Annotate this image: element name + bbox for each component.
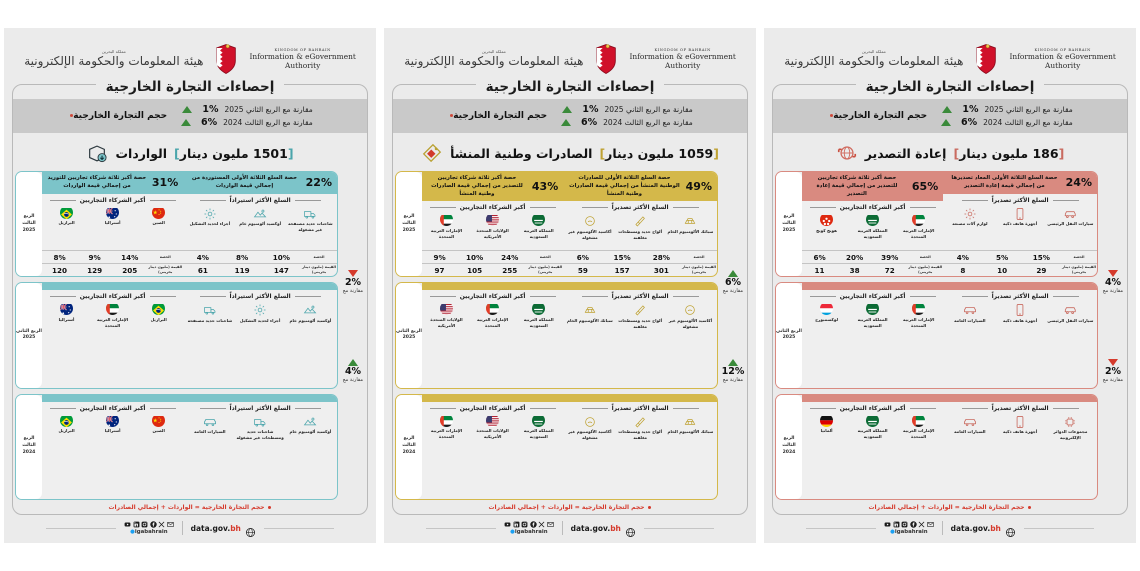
partners-header-plain xyxy=(42,283,183,290)
logo-name-ar: هيئة المعلومات والحكومة الإلكترونية xyxy=(24,54,203,70)
share-cell: 15% xyxy=(603,251,642,263)
quarter-row: السلع الأكثر استيراداًأوكسيد ألومنيوم خا… xyxy=(15,394,338,500)
section-value: [186 مليون دينار] xyxy=(953,146,1064,161)
box-download-icon xyxy=(86,142,108,164)
table-row: القيمة (مليون دينار بحريني)30115759 xyxy=(563,263,717,276)
quarter-tag: الربع الثاني 2025 xyxy=(396,283,422,387)
card-body: 2%مقارنة مع#d53a2c4%مقارنة مع#3a8a3a22%ح… xyxy=(13,171,367,500)
oxide-icon xyxy=(683,302,697,316)
flag-ae-icon xyxy=(912,213,925,226)
mineral-icon xyxy=(253,206,267,220)
trend-up-icon xyxy=(348,359,358,366)
social-icon-row[interactable] xyxy=(504,521,554,528)
good-item: سبائك الألومنيوم الخام xyxy=(565,302,614,323)
gear-icon xyxy=(963,206,977,220)
flag-ae-icon xyxy=(486,302,499,315)
quarter-tag: الربع الثالث 2024 xyxy=(396,395,422,499)
good-name: شاحنات حديد ومسطحات غير مشغولة xyxy=(236,429,285,440)
partners-subtitle: أكبر الشركاء التجاريين xyxy=(422,290,563,301)
goods-header-plain xyxy=(563,395,717,402)
partners-share-desc: حصة أكبر ثلاثة شركاء تجاريين للتصدير من … xyxy=(427,175,527,198)
globe-icon xyxy=(1005,523,1016,534)
good-item: سبائك الألومنيوم الخام xyxy=(666,213,715,234)
partner-name: الإمارات العربية المتحدة xyxy=(896,317,941,328)
goods-subtitle: السلع الأكثر تصديراً xyxy=(563,201,717,212)
share-cell: 6% xyxy=(802,251,837,263)
value-cell: 301 xyxy=(642,264,681,276)
quarter-tag: الربع الثالث 2025 xyxy=(396,172,422,276)
flag-lu-icon xyxy=(820,302,833,315)
share-cell: 5% xyxy=(983,251,1022,263)
gear-icon xyxy=(203,206,217,220)
good-name: لوازم آلات مصنعة xyxy=(952,221,987,227)
partners-header: 43%حصة أكبر ثلاثة شركاء تجاريين للتصدير … xyxy=(422,172,563,201)
partner-item: المملكة العربية السعودية xyxy=(850,302,895,328)
good-item: السيارات العامة xyxy=(945,302,994,323)
goods-section: 22%حصة السلع الثلاثة الأولى المستوردة من… xyxy=(183,172,337,276)
flag-ae-icon xyxy=(440,414,453,427)
social-icon-row[interactable] xyxy=(124,521,174,528)
linkedin-icon xyxy=(513,521,520,528)
circuit-icon xyxy=(1063,414,1077,428)
partner-item: المملكة العربية السعودية xyxy=(516,414,561,440)
quarter-label: الربع الثالث 2024 xyxy=(16,436,42,457)
partners-header-plain xyxy=(802,395,943,402)
compare-period: مقارنة مع الربع الثاني 2025 xyxy=(604,105,692,114)
value-cell: 61 xyxy=(183,264,222,276)
value-cell: 59 xyxy=(563,264,602,276)
card-title: إحصاءات التجارة الخارجية xyxy=(393,76,747,95)
panel-imports: KINGDOM OF BAHRAINInformation & eGovernm… xyxy=(4,28,376,543)
social-links[interactable]: igabahrain● xyxy=(504,521,554,535)
change-marker: 6%مقارنة مع#3a8a3a xyxy=(721,270,745,295)
footer-divider xyxy=(182,521,183,535)
car-icon xyxy=(1063,206,1077,220)
quarter-tag: الربع الثالث 2025 xyxy=(776,172,802,276)
partners-section: أكبر الشركاء التجاريينالإمارات العربية ا… xyxy=(802,283,943,387)
footer-rule-left xyxy=(1024,528,1094,529)
marker-pct: 12% xyxy=(722,366,745,377)
partner-name: الصين xyxy=(153,428,165,434)
good-item: السيارات العامة xyxy=(945,414,994,435)
logo-arabic: مملكة البحرينهيئة المعلومات والحكومة الإ… xyxy=(404,49,583,70)
good-item: أكاسيد الألومنيوم غير مشغولة xyxy=(565,414,614,441)
table-row: الحصة14%9%8% xyxy=(42,250,183,263)
quarter-label: الربع الثاني 2025 xyxy=(776,329,802,343)
partner-item: ألمانيا xyxy=(804,414,849,434)
instagram-icon xyxy=(521,521,528,528)
partner-item: أستراليا xyxy=(90,414,135,434)
logo-english: KINGDOM OF BAHRAINInformation & eGovernm… xyxy=(249,48,355,71)
compare-pct: 1% xyxy=(198,104,218,115)
goods-header-plain xyxy=(183,283,337,290)
car2-icon xyxy=(963,302,977,316)
marker-pct: 4% xyxy=(1105,277,1121,288)
partner-item: الإمارات العربية المتحدة xyxy=(896,302,941,328)
card-body: 4%مقارنة مع#d53a2c2%مقارنة مع#d53a2c24%ح… xyxy=(773,171,1127,500)
partners-share-pct: 65% xyxy=(912,180,938,193)
partner-item: الإمارات العربية المتحدة xyxy=(896,213,941,239)
goods-share-pct: 22% xyxy=(306,176,332,189)
logo-authority-en: Authority xyxy=(249,61,355,70)
share-cell: 6% xyxy=(563,251,602,263)
partners-subtitle: أكبر الشركاء التجاريين xyxy=(42,290,183,301)
change-rail: 6%مقارنة مع#3a8a3a12%مقارنة مع#3a8a3a xyxy=(721,171,745,500)
row-label-share: الحصة xyxy=(301,254,337,261)
flag-de-icon xyxy=(820,414,833,427)
good-name: ألواح حديد ومسطحات مغلفنة xyxy=(616,318,665,329)
flag-ae-icon xyxy=(106,302,119,315)
section-name: الواردات xyxy=(115,146,167,161)
trend-down-icon xyxy=(1108,359,1118,366)
partners-subtitle: أكبر الشركاء التجاريين xyxy=(422,402,563,413)
data-table: الحصة39%20%6%القيمة (مليون دينار بحريني)… xyxy=(802,250,943,276)
data-portal-label: data.gov.bh xyxy=(571,524,621,533)
partners-subtitle: أكبر الشركاء التجاريين xyxy=(42,194,183,205)
email-icon xyxy=(547,521,554,528)
good-name: أجزاء لحديد التشكيل xyxy=(240,318,280,324)
partners-header: 31%حصة أكبر ثلاثة شركاء تجاريين للتوريد … xyxy=(42,172,183,194)
good-name: ألواح حديد ومسطحات مغلفنة xyxy=(616,229,665,240)
row-label-share: الحصة xyxy=(527,254,563,261)
logo-header: KINGDOM OF BAHRAINInformation & eGovernm… xyxy=(392,38,748,80)
good-item: أوكسيد ألومنيوم خام xyxy=(236,206,285,227)
logo-english: KINGDOM OF BAHRAINInformation & eGovernm… xyxy=(629,48,735,71)
partners-section: 65%حصة أكبر ثلاثة شركاء تجاريين للتصدير … xyxy=(802,172,943,276)
goods-items: شاحنات حديد مصنفحة غير مشغولةأوكسيد ألوم… xyxy=(183,205,337,233)
value-cell: 97 xyxy=(422,264,457,276)
bahrain-emblem-icon xyxy=(969,42,1003,76)
partner-item: المملكة العربية السعودية xyxy=(850,414,895,440)
good-name: سيارات النقل الرئيسي xyxy=(1047,318,1093,324)
trend-up-icon xyxy=(941,119,951,126)
panel-footer: data.gov.bhigabahrain● xyxy=(392,515,748,539)
social-handle: igabahrain● xyxy=(890,529,927,535)
partner-name: المملكة العربية السعودية xyxy=(516,228,561,239)
social-links[interactable]: igabahrain● xyxy=(884,521,934,535)
partners-items: المملكة العربية السعوديةالولايات المتحدة… xyxy=(422,413,563,440)
partner-name: أستراليا xyxy=(59,317,75,323)
quarter-label: الربع الثالث 2025 xyxy=(16,214,42,235)
partner-item: البرازيل xyxy=(44,206,89,226)
row-label-value: القيمة (مليون دينار بحريني) xyxy=(301,264,337,276)
good-name: السيارات العامة xyxy=(194,429,225,435)
partner-name: البرازيل xyxy=(58,428,74,434)
good-item: شاحنات حديد مصنفحة غير مشغولة xyxy=(286,206,335,233)
social-handle: igabahrain● xyxy=(130,529,167,535)
good-item: ألواح حديد ومسطحات مغلفنة xyxy=(616,213,665,240)
data-portal-link[interactable]: data.gov.bh xyxy=(951,523,1016,534)
good-name: السيارات العامة xyxy=(954,318,985,324)
good-name: أجزاء لحديد التشكيل xyxy=(190,221,230,227)
trend-up-icon xyxy=(181,119,191,126)
linkedin-icon xyxy=(893,521,900,528)
quarter-tag: الربع الثالث 2024 xyxy=(776,395,802,499)
facebook-icon xyxy=(150,521,157,528)
flag-cn-icon xyxy=(152,414,165,427)
partner-item: البرازيل xyxy=(136,302,181,322)
trend-up-icon xyxy=(182,106,192,113)
good-item: أجزاء لحديد التشكيل xyxy=(236,302,285,323)
flag-sa-icon xyxy=(866,414,879,427)
compare-period: مقارنة مع الربع الثالث 2024 xyxy=(223,118,313,127)
goods-section: السلع الأكثر تصديراًسيارات النقل الرئيسي… xyxy=(943,283,1097,387)
goods-header: 24%حصة السلع الثلاثة الأولى المعاد تصدير… xyxy=(943,172,1097,194)
quarter-label: الربع الثالث 2024 xyxy=(776,436,802,457)
flag-us-icon xyxy=(440,302,453,315)
share-cell: 9% xyxy=(422,251,457,263)
marker-label: مقارنة مع xyxy=(343,288,363,295)
partner-name: الإمارات العربية المتحدة xyxy=(424,428,469,439)
change-marker: 2%مقارنة مع#d53a2c xyxy=(1101,359,1125,384)
partner-name: الإمارات العربية المتحدة xyxy=(90,317,135,328)
compare-label: حجم التجارة الخارجية xyxy=(447,111,547,121)
goods-share-desc: حصة السلع الثلاثة الأولى المستوردة من إج… xyxy=(188,175,300,191)
goods-header-plain xyxy=(943,283,1097,290)
footnote: حجم التجارة الخارجية = الواردات + إجمالي… xyxy=(13,500,367,514)
logo-name-ar: هيئة المعلومات والحكومة الإلكترونية xyxy=(784,54,963,70)
change-rail: 4%مقارنة مع#d53a2c2%مقارنة مع#d53a2c xyxy=(1101,171,1125,500)
good-name: مجموعات الدوائر الإلكترونية xyxy=(1046,429,1095,440)
email-icon xyxy=(927,521,934,528)
car2-icon xyxy=(203,414,217,428)
compare-label: حجم التجارة الخارجية xyxy=(67,111,167,121)
card-title: إحصاءات التجارة الخارجية xyxy=(773,76,1127,95)
partners-header: 65%حصة أكبر ثلاثة شركاء تجاريين للتصدير … xyxy=(802,172,943,201)
flag-br-icon xyxy=(152,302,165,315)
flag-sa-icon xyxy=(532,302,545,315)
compare-row: مقارنة مع الربع الثاني 20251% xyxy=(181,104,313,115)
compare-rows: مقارنة مع الربع الثاني 20251%مقارنة مع ا… xyxy=(561,104,693,128)
quarter-label: الربع الثاني 2025 xyxy=(16,329,42,343)
ingot-icon xyxy=(583,302,597,316)
social-icon-row[interactable] xyxy=(884,521,934,528)
partners-items: الصينأسترالياالبرازيل xyxy=(42,205,183,226)
infographic-board: KINGDOM OF BAHRAINInformation & eGovernm… xyxy=(0,28,1140,543)
value-cell: 72 xyxy=(872,264,907,276)
data-portal-label: data.gov.bh xyxy=(191,524,241,533)
flag-us-icon xyxy=(486,414,499,427)
trend-up-icon xyxy=(728,270,738,277)
data-table: الحصة10%8%4%القيمة (مليون دينار بحريني)1… xyxy=(183,250,337,276)
share-cell: 24% xyxy=(492,251,527,263)
partners-header-plain xyxy=(422,395,563,402)
data-portal-link[interactable]: data.gov.bh xyxy=(571,523,636,534)
partners-section: أكبر الشركاء التجاريينالمملكة العربية ال… xyxy=(422,283,563,387)
compare-bar: مقارنة مع الربع الثاني 20251%مقارنة مع ا… xyxy=(393,99,747,133)
good-name: السيارات العامة xyxy=(954,429,985,435)
goods-items: أوكسيد ألومنيوم خامشاحنات حديد ومسطحات غ… xyxy=(183,413,337,441)
compare-pct: 6% xyxy=(957,117,977,128)
stats-card: إحصاءات التجارة الخارجيةمقارنة مع الربع … xyxy=(772,84,1128,515)
compare-period: مقارنة مع الربع الثالث 2024 xyxy=(983,118,1073,127)
compare-bar: مقارنة مع الربع الثاني 20251%مقارنة مع ا… xyxy=(773,99,1127,133)
marker-label: مقارنة مع xyxy=(723,288,743,295)
partner-item: الإمارات العربية المتحدة xyxy=(470,302,515,328)
partner-name: الولايات المتحدة الأمريكية xyxy=(470,428,515,439)
mineral-icon xyxy=(303,302,317,316)
share-cell: 8% xyxy=(42,251,77,263)
partner-name: الإمارات العربية المتحدة xyxy=(896,228,941,239)
partner-item: الولايات المتحدة الأمريكية xyxy=(470,213,515,239)
quarter-tag: الربع الثاني 2025 xyxy=(776,283,802,387)
row-label-share: الحصة xyxy=(681,254,717,261)
row-label-share: الحصة xyxy=(147,254,183,261)
partner-item: الإمارات العربية المتحدة xyxy=(424,213,469,239)
footer-rule-left xyxy=(264,528,334,529)
goods-share-desc: حصة السلع الثلاثة الأولى للصادرات الوطني… xyxy=(568,175,680,198)
partner-name: المملكة العربية السعودية xyxy=(850,228,895,239)
good-name: أكاسيد الألومنيوم غير مشغولة xyxy=(565,429,614,440)
trend-up-icon xyxy=(942,106,952,113)
goods-items: سبائك الألومنيوم الخامألواح حديد ومسطحات… xyxy=(563,212,717,240)
good-name: سبائك الألومنيوم الخام xyxy=(567,318,613,324)
car2-icon xyxy=(963,414,977,428)
marker-label: مقارنة مع xyxy=(1103,377,1123,384)
partners-subtitle: أكبر الشركاء التجاريين xyxy=(422,201,563,212)
good-name: شاحنات حديد مصنفحة غير مشغولة xyxy=(286,221,335,232)
partners-subtitle: أكبر الشركاء التجاريين xyxy=(42,402,183,413)
ingot-icon xyxy=(683,213,697,227)
good-name: أوكسيد ألومنيوم خام xyxy=(239,221,281,227)
goods-share-pct: 49% xyxy=(686,180,712,193)
partner-name: أستراليا xyxy=(105,428,121,434)
section-name: الصادرات وطنية المنشأ xyxy=(450,146,592,161)
partner-name: المملكة العربية السعودية xyxy=(850,428,895,439)
change-marker: 2%مقارنة مع#d53a2c xyxy=(341,270,365,295)
partners-items: الصينأسترالياالبرازيل xyxy=(42,413,183,434)
partners-subtitle: أكبر الشركاء التجاريين xyxy=(802,201,943,212)
value-cell: 119 xyxy=(223,264,262,276)
goods-subtitle: السلع الأكثر استيراداً xyxy=(183,194,337,205)
marker-label: مقارنة مع xyxy=(1103,288,1123,295)
trend-down-icon xyxy=(1108,270,1118,277)
goods-section: السلع الأكثر تصديراًسبائك الألومنيوم الخ… xyxy=(563,395,717,499)
flag-au-icon xyxy=(60,302,73,315)
marker-label: مقارنة مع xyxy=(343,377,363,384)
card-title-text: إحصاءات التجارة الخارجية xyxy=(96,79,285,95)
compare-rows: مقارنة مع الربع الثاني 20251%مقارنة مع ا… xyxy=(181,104,313,128)
quarter-row: السلع الأكثر تصديراًسبائك الألومنيوم الخ… xyxy=(395,394,718,500)
table-row: القيمة (مليون دينار بحريني)14711961 xyxy=(183,263,337,276)
quarter-row: 24%حصة السلع الثلاثة الأولى المعاد تصدير… xyxy=(775,171,1098,277)
row-label-value: القيمة (مليون دينار بحريني) xyxy=(681,264,717,276)
share-cell: 4% xyxy=(943,251,982,263)
partners-share-pct: 43% xyxy=(532,180,558,193)
row-label-value: القيمة (مليون دينار بحريني) xyxy=(1061,264,1097,276)
flag-sa-icon xyxy=(532,414,545,427)
partners-section: أكبر الشركاء التجاريينالصينأسترالياالبرا… xyxy=(42,395,183,499)
good-item: شاحنات حديد ومسطحات غير مشغولة xyxy=(236,414,285,441)
data-portal-label: data.gov.bh xyxy=(951,524,1001,533)
quarter-tag: الربع الثالث 2024 xyxy=(16,395,42,499)
good-name: سبائك الألومنيوم الخام xyxy=(667,429,713,435)
goods-section: السلع الأكثر استيراداًأوكسيد ألومنيوم خا… xyxy=(183,395,337,499)
partner-item: الإمارات العربية المتحدة xyxy=(424,414,469,440)
panel-footer: data.gov.bhigabahrain● xyxy=(12,515,368,539)
flag-ae-icon xyxy=(912,302,925,315)
card-title-text: إحصاءات التجارة الخارجية xyxy=(476,79,665,95)
goods-items: أكاسيد الألومنيوم غير مشغولةألواح حديد و… xyxy=(563,301,717,329)
flag-br-icon xyxy=(60,206,73,219)
partner-name: أستراليا xyxy=(105,220,121,226)
good-name: ألواح حديد ومسطحات مغلفنة xyxy=(616,429,665,440)
value-cell: 8 xyxy=(943,264,982,276)
card-title: إحصاءات التجارة الخارجية xyxy=(13,76,367,95)
partner-name: المملكة العربية السعودية xyxy=(516,428,561,439)
quarter-label: الربع الثالث 2025 xyxy=(396,214,422,235)
share-cell: 10% xyxy=(262,251,301,263)
goods-subtitle: السلع الأكثر تصديراً xyxy=(563,290,717,301)
footer-divider xyxy=(562,521,563,535)
partner-item: الإمارات العربية المتحدة xyxy=(90,302,135,328)
car-icon xyxy=(1063,302,1077,316)
partner-name: الولايات المتحدة الأمريكية xyxy=(470,228,515,239)
gear-icon xyxy=(253,302,267,316)
partner-item: الصين xyxy=(136,206,181,226)
quarter-rows: 49%حصة السلع الثلاثة الأولى للصادرات الو… xyxy=(395,171,718,500)
logo-name-en: Information & eGovernment xyxy=(249,52,355,61)
table-row: الحصة15%5%4% xyxy=(943,250,1097,263)
facebook-icon xyxy=(530,521,537,528)
goods-subtitle: السلع الأكثر تصديراً xyxy=(563,402,717,413)
partner-name: المملكة العربية السعودية xyxy=(850,317,895,328)
partner-name: الإمارات العربية المتحدة xyxy=(470,317,515,328)
partners-items: المملكة العربية السعوديةالإمارات العربية… xyxy=(422,301,563,328)
value-cell: 157 xyxy=(603,264,642,276)
table-row: الحصة39%20%6% xyxy=(802,250,943,263)
quarter-row: السلع الأكثر تصديراًسيارات النقل الرئيسي… xyxy=(775,282,1098,388)
social-links[interactable]: igabahrain● xyxy=(124,521,174,535)
partners-header-plain xyxy=(422,283,563,290)
good-item: أوكسيد ألومنيوم خام xyxy=(286,302,335,323)
tag-icon xyxy=(421,142,443,164)
partner-item: هونج كونج xyxy=(804,213,849,233)
phone-icon xyxy=(1013,206,1027,220)
section-value: [1501 مليون دينار] xyxy=(174,146,294,161)
good-name: أجهزة هاتف ذكية xyxy=(1003,429,1037,435)
goods-items: أوكسيد ألومنيوم خامأجزاء لحديد التشكيلشا… xyxy=(183,301,337,323)
table-row: القيمة (مليون دينار بحريني)25510597 xyxy=(422,263,563,276)
good-name: أوكسيد ألومنيوم خام xyxy=(289,429,331,435)
partner-name: الولايات المتحدة الأمريكية xyxy=(424,317,469,328)
partner-name: ألمانيا xyxy=(821,428,833,434)
value-cell: 10 xyxy=(983,264,1022,276)
change-marker: 4%مقارنة مع#3a8a3a xyxy=(341,359,365,384)
quarter-label: الربع الثاني 2025 xyxy=(396,329,422,343)
value-cell: 29 xyxy=(1022,264,1061,276)
table-row: الحصة10%8%4% xyxy=(183,250,337,263)
partner-item: الإمارات العربية المتحدة xyxy=(896,414,941,440)
logo-header: KINGDOM OF BAHRAINInformation & eGovernm… xyxy=(772,38,1128,80)
good-name: أكاسيد الألومنيوم غير مشغولة xyxy=(666,318,715,329)
table-row: القيمة (مليون دينار بحريني)205129120 xyxy=(42,263,183,276)
good-item: أجهزة هاتف ذكية xyxy=(996,302,1045,323)
quarter-label: الربع الثالث 2024 xyxy=(396,436,422,457)
goods-subtitle: السلع الأكثر تصديراً xyxy=(943,194,1097,205)
data-portal-link[interactable]: data.gov.bh xyxy=(191,523,256,534)
goods-section: السلع الأكثر تصديراًأكاسيد الألومنيوم غي… xyxy=(563,283,717,387)
compare-rows: مقارنة مع الربع الثاني 20251%مقارنة مع ا… xyxy=(941,104,1073,128)
value-cell: 129 xyxy=(77,264,112,276)
quarter-row: السلع الأكثر تصديراًأكاسيد الألومنيوم غي… xyxy=(395,282,718,388)
panel-footer: data.gov.bhigabahrain● xyxy=(772,515,1128,539)
partner-item: البرازيل xyxy=(44,414,89,434)
quarter-row: السلع الأكثر استيراداًأوكسيد ألومنيوم خا… xyxy=(15,282,338,388)
ingot-icon xyxy=(683,414,697,428)
x-twitter-icon xyxy=(538,521,545,528)
mineral-icon xyxy=(303,414,317,428)
